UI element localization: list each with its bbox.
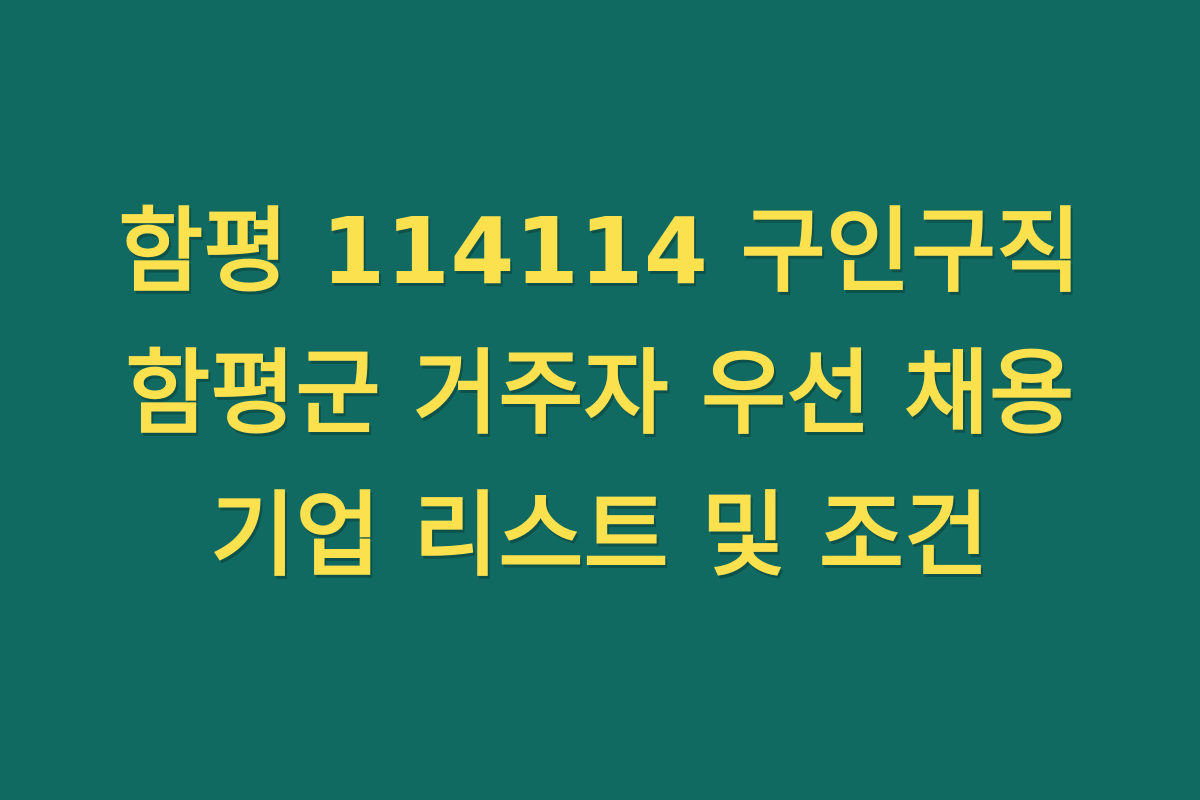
title-block: 함평 114114 구인구직 함평군 거주자 우선 채용 기업 리스트 및 조건 (0, 181, 1200, 607)
title-line-3: 기업 리스트 및 조건 (0, 465, 1200, 607)
title-line-2: 함평군 거주자 우선 채용 (0, 323, 1200, 465)
title-line-1: 함평 114114 구인구직 (0, 181, 1200, 323)
banner-card: 함평 114114 구인구직 함평군 거주자 우선 채용 기업 리스트 및 조건 (0, 0, 1200, 800)
